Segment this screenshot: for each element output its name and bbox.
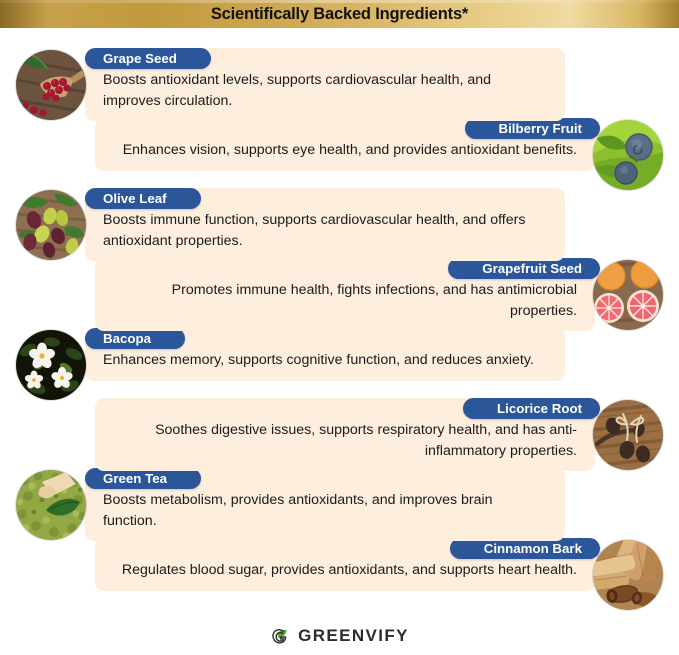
ingredient-list: Boosts antioxidant levels, supports card… [0, 28, 679, 625]
ingredient-description: Boosts immune function, supports cardiov… [103, 210, 547, 251]
brand-footer: GREENVIFY [0, 625, 679, 647]
ingredient-description: Enhances vision, supports eye health, an… [113, 140, 577, 161]
header-banner: Scientifically Backed Ingredients* [0, 0, 679, 28]
ingredient-description: Boosts metabolism, provides antioxidants… [103, 490, 547, 531]
ingredients-infographic: Scientifically Backed Ingredients* [0, 0, 679, 655]
ingredient-description: Soothes digestive issues, supports respi… [113, 420, 577, 461]
ingredient-name-badge: Grape Seed [85, 48, 211, 69]
brand-name: GREENVIFY [298, 626, 409, 646]
greenvify-leaf-g-icon [270, 625, 292, 647]
page-title: Scientifically Backed Ingredients* [211, 5, 468, 24]
ingredient-description: Promotes immune health, fights infection… [113, 280, 577, 321]
ingredient-description: Enhances memory, supports cognitive func… [103, 350, 547, 371]
ingredient-description: Regulates blood sugar, provides antioxid… [113, 560, 577, 581]
ingredient-name: Grape Seed [103, 51, 177, 66]
ingredient-row: Boosts antioxidant levels, supports card… [0, 48, 679, 138]
grape-seed-image [16, 50, 86, 120]
ingredient-description: Boosts antioxidant levels, supports card… [103, 70, 547, 111]
